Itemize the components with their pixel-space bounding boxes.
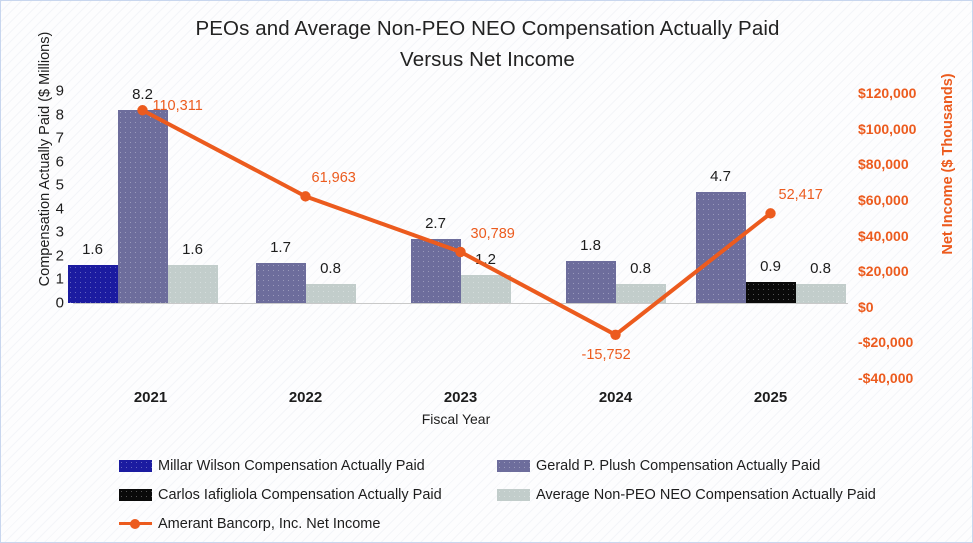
legend-item-avg-non-peo-neo[interactable]: Average Non-PEO NEO Compensation Actuall…: [497, 480, 909, 509]
y-axis-left-tick: 1: [56, 271, 64, 288]
y-axis-right-tick: -$40,000: [858, 370, 913, 386]
legend-label: Average Non-PEO NEO Compensation Actuall…: [536, 487, 876, 503]
navy-swatch-icon: [119, 460, 152, 472]
legend-row-1: Millar Wilson Compensation Actually Paid…: [119, 451, 909, 480]
net-income-line: [143, 110, 771, 335]
y-axis-left-tick: 9: [56, 83, 64, 100]
net-income-point-2025: [765, 208, 775, 218]
y-axis-right-tick: $40,000: [858, 228, 909, 244]
orange-line-marker-icon: [119, 518, 152, 530]
y-axis-right-tick: $20,000: [858, 263, 909, 279]
legend-label: Carlos Iafigliola Compensation Actually …: [158, 487, 442, 503]
y-axis-left-tick: 8: [56, 106, 64, 123]
net-income-markers: [137, 105, 775, 340]
net-income-label-2021: 110,311: [153, 98, 203, 114]
y-axis-right-title: Net Income ($ Thousands): [940, 34, 956, 294]
y-axis-right-tick: $60,000: [858, 192, 909, 208]
y-axis-left-tick: 0: [56, 295, 64, 312]
net-income-point-2024: [610, 330, 620, 340]
legend-item-carlos-iafigliola[interactable]: Carlos Iafigliola Compensation Actually …: [119, 480, 497, 509]
x-axis-tick: 2024: [599, 389, 632, 406]
y-axis-right-tick: $100,000: [858, 121, 916, 137]
net-income-label-2024: -15,752: [582, 347, 631, 363]
y-axis-right-tick: $0: [858, 299, 874, 315]
chart-title-line-1: PEOs and Average Non-PEO NEO Compensatio…: [1, 13, 973, 44]
plot-area: 9876543210 $120,000$100,000$80,000$60,00…: [73, 85, 848, 385]
y-axis-right-tick: $80,000: [858, 156, 909, 172]
chart-canvas: PEOs and Average Non-PEO NEO Compensatio…: [0, 0, 973, 543]
y-axis-left-tick: 6: [56, 153, 64, 170]
y-axis-left-tick: 4: [56, 200, 64, 217]
x-axis-tick: 2021: [134, 389, 167, 406]
y-axis-left-tick: 5: [56, 177, 64, 194]
line-series-layer: [73, 85, 848, 385]
y-axis-left-tick: 7: [56, 130, 64, 147]
chart-title-line-2: Versus Net Income: [1, 44, 973, 75]
y-axis-right-tick: $120,000: [858, 85, 916, 101]
net-income-label-2025: 52,417: [779, 187, 823, 203]
purple-swatch-icon: [497, 460, 530, 472]
net-income-point-2021: [137, 105, 147, 115]
net-income-point-2022: [300, 191, 310, 201]
x-axis-tick: 2022: [289, 389, 322, 406]
y-axis-left-tick: 2: [56, 247, 64, 264]
legend-label: Gerald P. Plush Compensation Actually Pa…: [536, 458, 820, 474]
y-axis-left-tick: 3: [56, 224, 64, 241]
legend-label: Amerant Bancorp, Inc. Net Income: [158, 516, 380, 532]
legend-item-gerald-plush[interactable]: Gerald P. Plush Compensation Actually Pa…: [497, 451, 909, 480]
net-income-label-2022: 61,963: [312, 170, 356, 186]
legend-row-3: Amerant Bancorp, Inc. Net Income: [119, 509, 909, 538]
x-axis-tick: 2025: [754, 389, 787, 406]
black-swatch-icon: [119, 489, 152, 501]
net-income-point-2023: [455, 247, 465, 257]
legend-item-net-income[interactable]: Amerant Bancorp, Inc. Net Income: [119, 509, 497, 538]
net-income-label-2023: 30,789: [471, 226, 515, 242]
x-axis-tick: 2023: [444, 389, 477, 406]
chart-title: PEOs and Average Non-PEO NEO Compensatio…: [1, 13, 973, 75]
chart-legend: Millar Wilson Compensation Actually Paid…: [119, 451, 909, 538]
x-axis-title: Fiscal Year: [1, 411, 911, 427]
y-axis-right-tick: -$20,000: [858, 334, 913, 350]
y-axis-left-title: Compensation Actually Paid ($ Millions): [37, 29, 53, 289]
legend-item-millar-wilson[interactable]: Millar Wilson Compensation Actually Paid: [119, 451, 497, 480]
legend-label: Millar Wilson Compensation Actually Paid: [158, 458, 425, 474]
gray-swatch-icon: [497, 489, 530, 501]
legend-row-2: Carlos Iafigliola Compensation Actually …: [119, 480, 909, 509]
